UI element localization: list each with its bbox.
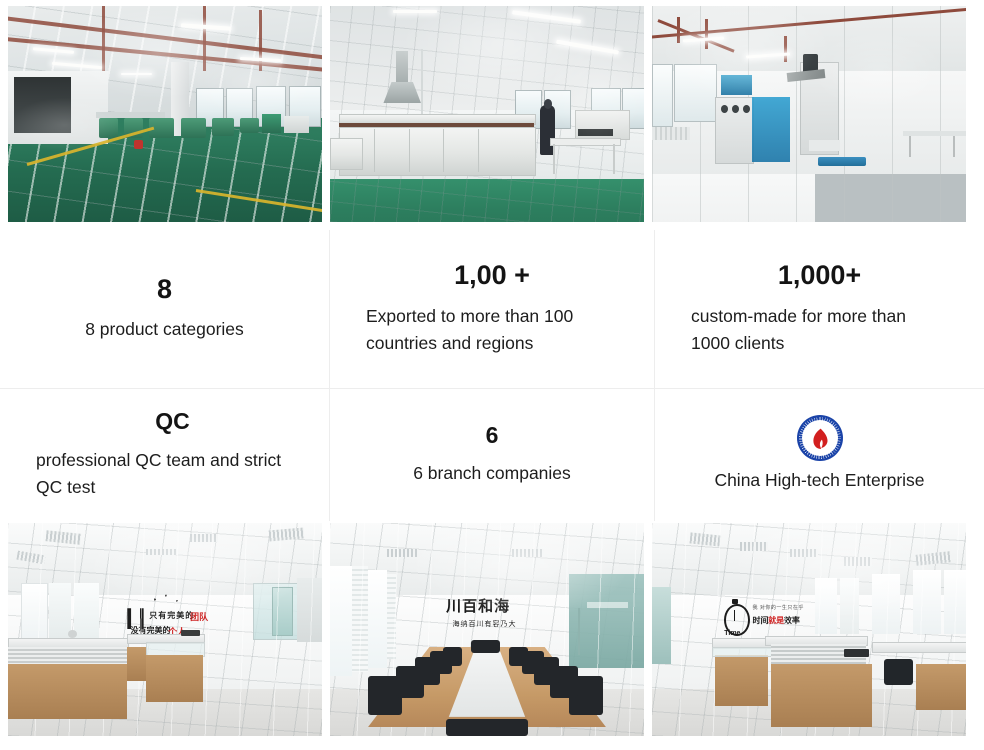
cubicle-wood-panel xyxy=(715,655,768,706)
stat-product-categories[interactable]: 8 8 product categories xyxy=(0,230,330,388)
stat-custom-made-clients[interactable]: 1,000+ custom-made for more than 1000 cl… xyxy=(655,230,984,388)
company-profile-page: 8 8 product categories 1,00 + Exported t… xyxy=(0,0,984,750)
top-photo-row xyxy=(0,0,984,222)
photo-office-workstations[interactable]: 只有完美的 团队 没有完美的 个人 xyxy=(8,523,322,736)
cubicle-glass-rail xyxy=(8,647,127,664)
stat-description: professional QC team and strict QC test xyxy=(36,447,309,501)
cubicle-wood-panel xyxy=(8,664,127,719)
photo-conference-room[interactable]: 川百和海 海纳百川有容乃大 xyxy=(330,523,644,736)
stat-description: Exported to more than 100 countries and … xyxy=(366,303,618,357)
chair-foreground xyxy=(446,719,528,736)
chair xyxy=(509,647,528,666)
factory-floor xyxy=(8,118,322,222)
chair-head xyxy=(471,640,499,653)
desk-monitor xyxy=(181,630,200,636)
stat-description: 8 product categories xyxy=(36,316,293,343)
desk-monitor xyxy=(844,649,869,658)
desk-wood-panel xyxy=(916,664,966,711)
stat-description: custom-made for more than 1000 clients xyxy=(691,303,948,357)
desk-item xyxy=(68,630,77,639)
stat-value: QC xyxy=(36,409,309,434)
flame-emblem-icon xyxy=(807,426,833,452)
photo-testing-equipment-room[interactable] xyxy=(652,6,966,222)
stat-qc-team[interactable]: QC professional QC team and strict QC te… xyxy=(0,389,330,521)
photo-factory-production-line[interactable] xyxy=(8,6,322,222)
photo-office-reception-area[interactable]: Time 我 对你的一生只在乎 时间 就是 效率 xyxy=(652,523,966,736)
stat-export-countries[interactable]: 1,00 + Exported to more than 100 countri… xyxy=(330,230,655,388)
stats-row-2: QC professional QC team and strict QC te… xyxy=(0,389,984,521)
stat-description: 6 branch companies xyxy=(366,460,618,487)
cubicle-wood-panel xyxy=(146,655,203,702)
stat-value: 1,00 + xyxy=(366,261,618,291)
photo-reflow-oven-line[interactable] xyxy=(330,6,644,222)
certification-logo-wrap xyxy=(691,415,948,461)
desk-top xyxy=(872,642,966,653)
stat-value: 1,000+ xyxy=(691,261,948,291)
company-stats-grid: 8 8 product categories 1,00 + Exported t… xyxy=(0,230,984,520)
chair xyxy=(443,647,462,666)
stat-description: China High-tech Enterprise xyxy=(691,467,948,494)
stat-branch-companies[interactable]: 6 6 branch companies xyxy=(330,389,655,521)
office-chair xyxy=(884,659,912,685)
factory-floor xyxy=(330,179,644,222)
stat-value: 6 xyxy=(366,423,618,448)
cubicle-wood-panel xyxy=(127,647,146,681)
stat-value: 8 xyxy=(36,275,293,305)
stat-high-tech-certification[interactable]: China High-tech Enterprise xyxy=(655,389,984,521)
cubicle-glass-panel xyxy=(712,647,774,658)
cubicle-wood-panel xyxy=(771,664,871,728)
bottom-photo-row: 只有完美的 团队 没有完美的 个人 xyxy=(0,523,984,736)
china-high-tech-enterprise-logo-icon xyxy=(797,415,843,461)
stats-row-1: 8 8 product categories 1,00 + Exported t… xyxy=(0,230,984,389)
